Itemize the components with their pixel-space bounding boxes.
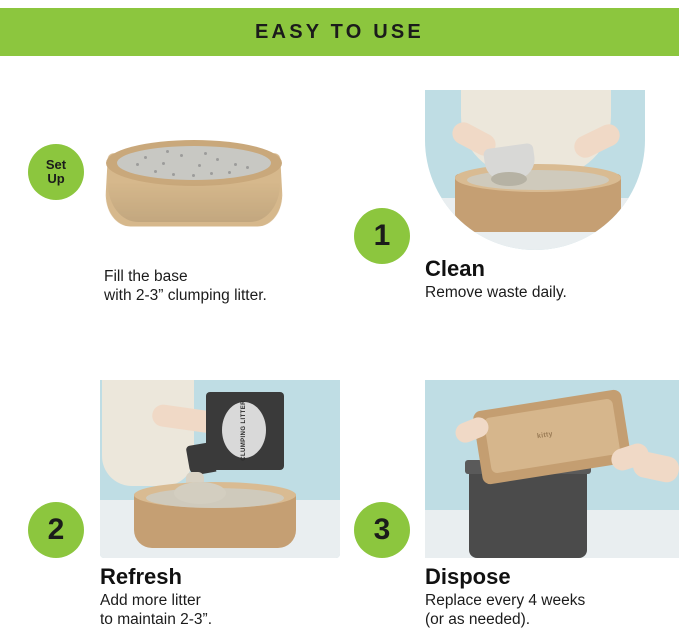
caption-clean: Clean Remove waste daily.	[425, 256, 675, 303]
illustration-litter-pan	[106, 130, 292, 240]
badge-setup: Set Up	[28, 144, 84, 200]
litter-mound	[174, 482, 226, 504]
badge-setup-line2: Up	[47, 172, 64, 186]
caption-refresh: Refresh Add more litter to maintain 2-3”…	[100, 564, 340, 630]
illustration-dispose: kitty	[425, 380, 679, 558]
badge-3-label: 3	[374, 513, 391, 547]
header-banner: EASY TO USE	[0, 8, 679, 56]
illustration-clean	[425, 90, 645, 250]
caption-dispose: Dispose Replace every 4 weeks (or as nee…	[425, 564, 679, 630]
step-dispose: 3 kitty Dispose Replace every 4 weeks (o…	[340, 350, 679, 628]
caption-dispose-title: Dispose	[425, 564, 679, 591]
caption-dispose-line-1: (or as needed).	[425, 611, 679, 630]
caption-setup: Fill the base with 2-3” clumping litter.	[104, 268, 340, 306]
steps-grid: Set Up Fill the base with 2	[0, 72, 679, 628]
caption-clean-line-0: Remove waste daily.	[425, 284, 675, 303]
badge-2-label: 2	[48, 513, 65, 547]
caption-refresh-line-0: Add more litter	[100, 592, 340, 611]
step-setup: Set Up Fill the base with 2	[0, 72, 340, 350]
caption-setup-line-0: Fill the base	[104, 268, 340, 287]
jug-label-text: CLUMPING LITTER	[241, 400, 248, 461]
step-clean: 1 Clean Remove waste daily.	[340, 72, 679, 350]
badge-1: 1	[354, 208, 410, 264]
badge-1-label: 1	[374, 219, 391, 253]
badge-2: 2	[28, 502, 84, 558]
pan-shadow	[108, 182, 280, 222]
person-shirt	[102, 380, 194, 486]
caption-refresh-line-1: to maintain 2-3”.	[100, 611, 340, 630]
caption-setup-line-1: with 2-3” clumping litter.	[104, 287, 340, 306]
jug-label: CLUMPING LITTER	[222, 402, 266, 458]
scoop-clump	[491, 172, 527, 186]
litter-jug-spout	[186, 442, 217, 476]
step-refresh: 2 CLUMPING LITTER Refresh Add more litt	[0, 350, 340, 628]
badge-3: 3	[354, 502, 410, 558]
badge-setup-line1: Set	[46, 158, 66, 172]
caption-clean-title: Clean	[425, 256, 675, 283]
illustration-refresh: CLUMPING LITTER	[100, 380, 340, 558]
page-title: EASY TO USE	[255, 21, 424, 44]
caption-refresh-title: Refresh	[100, 564, 340, 591]
caption-dispose-line-0: Replace every 4 weeks	[425, 592, 679, 611]
